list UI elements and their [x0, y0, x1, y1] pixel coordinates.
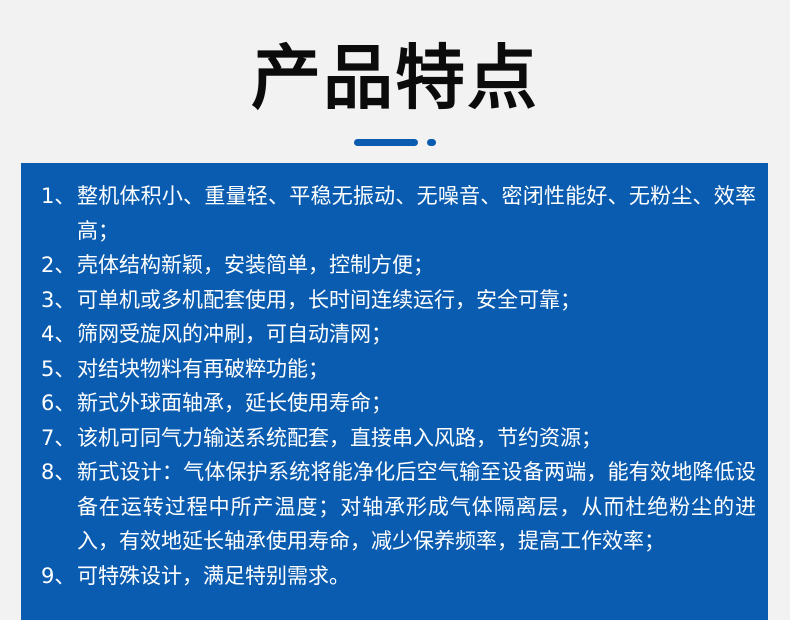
list-item: 5、对结块物料有再破粹功能； [33, 352, 756, 387]
list-item-number: 6、 [41, 386, 83, 421]
list-item-text: 该机可同气力输送系统配套，直接串入风路，节约资源； [77, 426, 602, 450]
list-item-number: 2、 [41, 248, 83, 283]
divider-bar-icon [354, 139, 418, 146]
list-item-number: 1、 [41, 179, 83, 214]
features-panel: 1、整机体积小、重量轻、平稳无振动、无噪音、密闭性能好、无粉尘、效率高；2、壳体… [21, 163, 768, 620]
page-title: 产品特点 [0, 38, 790, 118]
list-item-number: 4、 [41, 317, 83, 352]
list-item-number: 7、 [41, 421, 83, 456]
list-item-number: 8、 [41, 455, 83, 490]
list-item-text: 筛网受旋风的冲刷，可自动清网； [77, 322, 392, 346]
product-features-page: 产品特点 1、整机体积小、重量轻、平稳无振动、无噪音、密闭性能好、无粉尘、效率高… [0, 0, 790, 643]
list-item-text: 新式设计：气体保护系统将能净化后空气输至设备两端，能有效地降低设备在运转过程中所… [77, 460, 756, 553]
list-item: 1、整机体积小、重量轻、平稳无振动、无噪音、密闭性能好、无粉尘、效率高； [33, 179, 756, 248]
list-item-text: 可特殊设计，满足特别需求。 [77, 564, 350, 588]
list-item-text: 对结块物料有再破粹功能； [77, 357, 329, 381]
list-item-number: 3、 [41, 283, 83, 318]
list-item-text: 壳体结构新颖，安装简单，控制方便； [77, 253, 434, 277]
list-item-text: 可单机或多机配套使用，长时间连续运行，安全可靠； [77, 288, 581, 312]
list-item-number: 9、 [41, 559, 83, 594]
list-item: 7、该机可同气力输送系统配套，直接串入风路，节约资源； [33, 421, 756, 456]
panel-gutter-left [0, 163, 21, 620]
panel-gutter-right [768, 163, 790, 620]
divider-dot-icon [427, 139, 436, 146]
list-item: 4、筛网受旋风的冲刷，可自动清网； [33, 317, 756, 352]
title-divider [0, 136, 790, 148]
list-item-number: 5、 [41, 352, 83, 387]
list-item: 9、可特殊设计，满足特别需求。 [33, 559, 756, 594]
list-item: 8、新式设计：气体保护系统将能净化后空气输至设备两端，能有效地降低设备在运转过程… [33, 455, 756, 559]
list-item: 3、可单机或多机配套使用，长时间连续运行，安全可靠； [33, 283, 756, 318]
list-item: 6、新式外球面轴承，延长使用寿命； [33, 386, 756, 421]
footer-spacer [0, 620, 790, 643]
list-item-text: 新式外球面轴承，延长使用寿命； [77, 391, 392, 415]
list-item-text: 整机体积小、重量轻、平稳无振动、无噪音、密闭性能好、无粉尘、效率高； [77, 184, 756, 243]
list-item: 2、壳体结构新颖，安装简单，控制方便； [33, 248, 756, 283]
features-list: 1、整机体积小、重量轻、平稳无振动、无噪音、密闭性能好、无粉尘、效率高；2、壳体… [33, 179, 756, 593]
